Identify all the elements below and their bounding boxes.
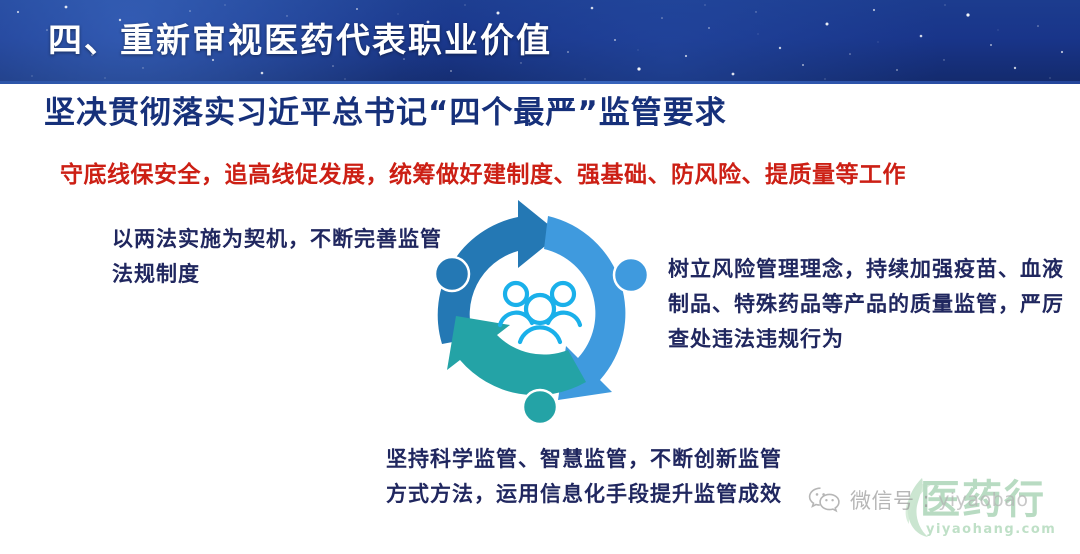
page-title: 四、重新审视医药代表职业价值	[48, 16, 552, 66]
wechat-label: 微信号	[850, 485, 915, 515]
cycle-diagram	[420, 196, 670, 428]
section-subtitle: 坚决贯彻落实习近平总书记“四个最严”监管要求	[44, 93, 727, 133]
callout-bottom: 坚持科学监管、智慧监管，不断创新监管方式方法，运用信息化手段提升监管成效	[386, 442, 786, 512]
wechat-icon	[808, 486, 842, 514]
dot-upper-right	[614, 258, 648, 292]
header-underline	[0, 81, 1080, 84]
wechat-id: yiyaobao	[938, 489, 1028, 511]
dot-bottom	[523, 390, 557, 424]
people-group-icon	[500, 283, 580, 342]
wechat-watermark: 微信号 : yiyaobao	[808, 483, 1028, 517]
header-band: 四、重新审视医药代表职业价值	[0, 0, 1080, 84]
dot-upper-left	[435, 257, 469, 291]
arrow-bottom-icon	[447, 316, 586, 395]
brand-url: yiyaohang.com	[926, 522, 1056, 537]
wechat-separator: :	[923, 488, 931, 512]
callout-left: 以两法实施为契机，不断完善监管法规制度	[112, 222, 442, 292]
slide-root: 四、重新审视医药代表职业价值 坚决贯彻落实习近平总书记“四个最严”监管要求 守底…	[0, 0, 1080, 554]
callout-right: 树立风险管理理念，持续加强疫苗、血液制品、特殊药品等产品的质量监管，严厉查处违法…	[668, 252, 1068, 357]
slogan-text: 守底线保安全，追高线促发展，统筹做好建制度、强基础、防风险、提质量等工作	[60, 158, 1060, 192]
